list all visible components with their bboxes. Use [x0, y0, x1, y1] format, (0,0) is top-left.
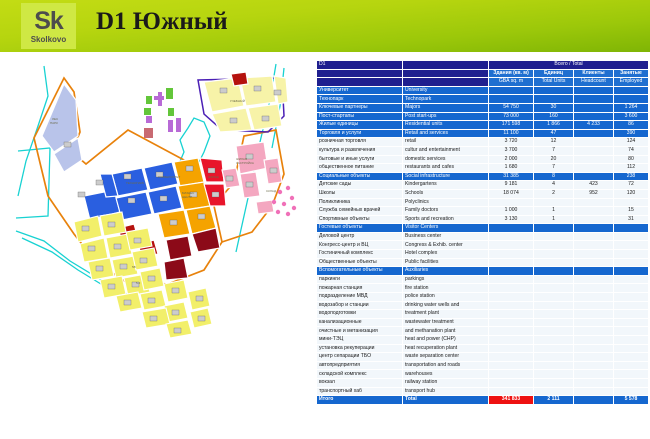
- row-label-en: Public facilities: [403, 258, 489, 267]
- row-label-en: wastewater treatment: [403, 318, 489, 327]
- row-label-en: Kindergartens: [403, 181, 489, 190]
- row-units: 8: [534, 172, 574, 181]
- table-row: установка рекуперацииheat recuperation p…: [317, 344, 649, 353]
- row-employed: [614, 224, 649, 233]
- row-headcount: [574, 250, 614, 259]
- slide-root: Sk Skolkovo D1 Южный: [0, 0, 650, 439]
- site-plan-map: ЛЕС ПАРК УЧЕБНЫЙ ЖИЛАЯ ЗАСТРОЙКА ТЕХНОПА…: [8, 56, 308, 386]
- row-units: 160: [534, 112, 574, 121]
- row-headcount: [574, 86, 614, 95]
- row-label-ru: пожарная станция: [317, 284, 403, 293]
- row-gba: [489, 258, 534, 267]
- row-label-ru: водозабор и станции: [317, 301, 403, 310]
- row-units: [534, 293, 574, 302]
- row-headcount: [574, 103, 614, 112]
- summary-table: D1 Всего / Total Здания (кв. м) Единиц К…: [316, 60, 649, 405]
- table-row: розничная торговляretail3 72012124: [317, 138, 649, 147]
- row-label-en: domestic services: [403, 155, 489, 164]
- table-row: Гостиничный комплексHotel complex: [317, 250, 649, 259]
- svg-text:ЗАСТРОЙКА: ЗАСТРОЙКА: [236, 161, 254, 165]
- row-headcount: [574, 353, 614, 362]
- column-header-units-ru: Единиц: [534, 69, 574, 78]
- row-employed: [614, 258, 649, 267]
- map-svg: ЛЕС ПАРК УЧЕБНЫЙ ЖИЛАЯ ЗАСТРОЙКА ТЕХНОПА…: [8, 56, 308, 386]
- row-headcount: [574, 224, 614, 233]
- row-label-ru: Вспомогательные объекты: [317, 267, 403, 276]
- header-en-blank-1: [403, 69, 489, 78]
- column-header-employed-en: Employed: [614, 78, 649, 87]
- row-label-en: Majors: [403, 103, 489, 112]
- row-label-en: treatment plant: [403, 310, 489, 319]
- row-employed: [614, 378, 649, 387]
- row-headcount: [574, 318, 614, 327]
- row-headcount: [574, 198, 614, 207]
- row-label-en: Retail and services: [403, 129, 489, 138]
- row-label-ru: Школы: [317, 189, 403, 198]
- row-employed: 390: [614, 129, 649, 138]
- row-gba: [489, 198, 534, 207]
- row-gba: [489, 275, 534, 284]
- row-label-ru: Деловой центр: [317, 232, 403, 241]
- row-gba: 1 000: [489, 207, 534, 216]
- row-units: [534, 301, 574, 310]
- row-units: [534, 258, 574, 267]
- row-gba: 2 000: [489, 155, 534, 164]
- row-units: 1: [534, 207, 574, 216]
- row-label-en: Family doctors: [403, 207, 489, 216]
- row-gba: [489, 318, 534, 327]
- row-employed: 80: [614, 155, 649, 164]
- row-label-ru: мини-ТЭЦ: [317, 336, 403, 345]
- row-label-ru: Гостевые объекты: [317, 224, 403, 233]
- row-employed: [614, 301, 649, 310]
- row-gba: [489, 224, 534, 233]
- svg-text:УЧЕБНЫЙ: УЧЕБНЫЙ: [230, 99, 245, 103]
- column-header-gba-ru: Здания (кв. м): [489, 69, 534, 78]
- table-body: D1 Всего / Total Здания (кв. м) Единиц К…: [317, 61, 649, 405]
- svg-text:5-2: 5-2: [136, 281, 141, 285]
- row-headcount: [574, 284, 614, 293]
- row-label-en: fire station: [403, 284, 489, 293]
- row-label-en: Visitor Centers: [403, 224, 489, 233]
- row-units: 12: [534, 138, 574, 147]
- total-label-ru: Итого: [317, 396, 403, 405]
- row-headcount: [574, 275, 614, 284]
- table-header-row-2: Здания (кв. м) Единиц Клиенты Занятые: [317, 69, 649, 78]
- row-employed: [614, 327, 649, 336]
- row-label-en: warehouses: [403, 370, 489, 379]
- row-label-ru: вокзал: [317, 378, 403, 387]
- row-label-en: Hotel complex: [403, 250, 489, 259]
- table-row: транспортный хабtransport hub: [317, 387, 649, 396]
- table-row: ПоликлиникаPolyclinics: [317, 198, 649, 207]
- row-units: [534, 232, 574, 241]
- column-header-gba-en: GBA sq. m: [489, 78, 534, 87]
- row-headcount: [574, 164, 614, 173]
- row-units: [534, 86, 574, 95]
- row-employed: [614, 95, 649, 104]
- row-employed: [614, 293, 649, 302]
- title-banner: Sk Skolkovo D1 Южный: [0, 0, 650, 52]
- row-employed: 112: [614, 164, 649, 173]
- row-employed: 1 264: [614, 103, 649, 112]
- column-header-headcount-ru: Клиенты: [574, 69, 614, 78]
- column-header-employed-ru: Занятые: [614, 69, 649, 78]
- row-label-ru: Технопарк: [317, 95, 403, 104]
- row-label-en: Sports and recreation: [403, 215, 489, 224]
- table-row: мини-ТЭЦheat and power (CHP): [317, 336, 649, 345]
- row-employed: [614, 86, 649, 95]
- row-employed: 15: [614, 207, 649, 216]
- table-row: ТехнопаркTechnopark: [317, 95, 649, 104]
- row-label-ru: Конгресс-центр и ВЦ: [317, 241, 403, 250]
- row-employed: 31: [614, 215, 649, 224]
- row-label-en: Auxiliaries: [403, 267, 489, 276]
- row-gba: [489, 361, 534, 370]
- table-row: центр сепарации ТБОwaste separation cent…: [317, 353, 649, 362]
- row-units: [534, 224, 574, 233]
- row-employed: [614, 370, 649, 379]
- row-label-ru: канализационные: [317, 318, 403, 327]
- row-units: 30: [534, 103, 574, 112]
- row-label-ru: центр сепарации ТБО: [317, 353, 403, 362]
- row-label-ru: паркинги: [317, 275, 403, 284]
- table-row: Пост-стартапыPost start-ups73 0001603 60…: [317, 112, 649, 121]
- row-headcount: 952: [574, 189, 614, 198]
- row-label-en: and methanation plant: [403, 327, 489, 336]
- table-row: Торговля и услугиRetail and services11 1…: [317, 129, 649, 138]
- row-label-en: Residential units: [403, 121, 489, 130]
- row-label-en: police station: [403, 293, 489, 302]
- row-gba: [489, 241, 534, 250]
- row-units: [534, 336, 574, 345]
- row-headcount: [574, 310, 614, 319]
- row-employed: 74: [614, 146, 649, 155]
- table-row: Общественные объектыPublic facilities: [317, 258, 649, 267]
- row-headcount: [574, 207, 614, 216]
- row-gba: 171 598: [489, 121, 534, 130]
- row-label-en: parkings: [403, 275, 489, 284]
- row-headcount: [574, 172, 614, 181]
- row-label-ru: водоподготовки: [317, 310, 403, 319]
- svg-text:ТЕХНОПАРК: ТЕХНОПАРК: [126, 181, 144, 185]
- logo-wordmark: Skolkovo: [31, 36, 67, 44]
- row-gba: [489, 378, 534, 387]
- row-label-ru: складской комплекс: [317, 370, 403, 379]
- table-row: подразделение МВДpolice station: [317, 293, 649, 302]
- table-row: Служба семейных врачейFamily doctors1 00…: [317, 207, 649, 216]
- row-units: 7: [534, 164, 574, 173]
- row-headcount: [574, 361, 614, 370]
- row-gba: [489, 327, 534, 336]
- row-label-ru: Социальные объекты: [317, 172, 403, 181]
- row-units: 2: [534, 189, 574, 198]
- row-label-en: Technopark: [403, 95, 489, 104]
- table-row: Детские садыKindergartens9 181442372: [317, 181, 649, 190]
- row-label-ru: установка рекуперации: [317, 344, 403, 353]
- row-units: [534, 95, 574, 104]
- row-label-en: Social infrastructure: [403, 172, 489, 181]
- row-units: 1: [534, 215, 574, 224]
- row-headcount: [574, 95, 614, 104]
- row-employed: [614, 344, 649, 353]
- row-label-en: retail: [403, 138, 489, 147]
- row-label-ru: Жилые единицы: [317, 121, 403, 130]
- row-units: 4: [534, 181, 574, 190]
- row-employed: [614, 353, 649, 362]
- row-employed: [614, 387, 649, 396]
- table-header-row-1: D1 Всего / Total: [317, 61, 649, 70]
- row-employed: [614, 336, 649, 345]
- row-employed: 238: [614, 172, 649, 181]
- row-headcount: [574, 336, 614, 345]
- table-row: паркингиparkings: [317, 275, 649, 284]
- table-total-row: Итого Total 341 833 2 111 5 578: [317, 396, 649, 405]
- row-headcount: [574, 232, 614, 241]
- total-label-en: Total: [403, 396, 489, 405]
- table-row: Социальные объектыSocial infrastructure3…: [317, 172, 649, 181]
- row-units: [534, 318, 574, 327]
- table-row: Спортивные объектыSports and recreation3…: [317, 215, 649, 224]
- row-units: [534, 284, 574, 293]
- table-row: бытовые и иные услугиdomestic services2 …: [317, 155, 649, 164]
- table-row: Ключевые партнерыMajors54 750301 264: [317, 103, 649, 112]
- row-label-en: waste separation center: [403, 353, 489, 362]
- row-label-ru: подразделение МВД: [317, 293, 403, 302]
- row-headcount: 423: [574, 181, 614, 190]
- table-row: ШколыSchools18 0742952120: [317, 189, 649, 198]
- row-employed: 3 600: [614, 112, 649, 121]
- row-headcount: [574, 387, 614, 396]
- table-row: Жилые единицыResidential units171 5981 8…: [317, 121, 649, 130]
- row-label-en: Schools: [403, 189, 489, 198]
- total-headcount: [574, 396, 614, 405]
- table-row: общественное питаниеrestaurants and cafe…: [317, 164, 649, 173]
- row-headcount: [574, 327, 614, 336]
- row-label-ru: очистные и метанизация: [317, 327, 403, 336]
- header-ru-blank-1: [317, 69, 403, 78]
- row-units: [534, 198, 574, 207]
- svg-text:СКЛАД: СКЛАД: [266, 189, 276, 193]
- row-employed: [614, 241, 649, 250]
- row-label-en: Business center: [403, 232, 489, 241]
- table-row: культура и развлеченияcultur and enterta…: [317, 146, 649, 155]
- table-row: водоподготовкиtreatment plant: [317, 310, 649, 319]
- row-units: [534, 241, 574, 250]
- svg-text:УНИВЕРСИТЕТ: УНИВЕРСИТЕТ: [158, 175, 180, 179]
- row-gba: 31 385: [489, 172, 534, 181]
- table-corner-label: D1: [317, 61, 403, 70]
- row-label-en: Congress & Exhib. center: [403, 241, 489, 250]
- row-label-ru: Университет: [317, 86, 403, 95]
- page-title: D1 Южный: [96, 8, 228, 36]
- row-units: [534, 327, 574, 336]
- row-employed: [614, 232, 649, 241]
- row-gba: 3 720: [489, 138, 534, 147]
- row-gba: 54 750: [489, 103, 534, 112]
- table-row: УниверситетUniversity: [317, 86, 649, 95]
- row-label-en: University: [403, 86, 489, 95]
- row-gba: 18 074: [489, 189, 534, 198]
- total-employed: 5 578: [614, 396, 649, 405]
- row-label-ru: Ключевые партнеры: [317, 103, 403, 112]
- row-gba: 11 100: [489, 129, 534, 138]
- row-gba: 73 000: [489, 112, 534, 121]
- svg-text:ЦЕНТР: ЦЕНТР: [182, 195, 192, 199]
- row-label-ru: общественное питание: [317, 164, 403, 173]
- row-label-ru: Поликлиника: [317, 198, 403, 207]
- row-label-ru: Общественные объекты: [317, 258, 403, 267]
- row-gba: [489, 370, 534, 379]
- row-label-ru: Служба семейных врачей: [317, 207, 403, 216]
- row-employed: [614, 198, 649, 207]
- row-label-en: heat and power (CHP): [403, 336, 489, 345]
- row-gba: [489, 336, 534, 345]
- row-label-en: cultur and entertainment: [403, 146, 489, 155]
- row-headcount: [574, 146, 614, 155]
- table-row: Конгресс-центр и ВЦCongress & Exhib. cen…: [317, 241, 649, 250]
- row-label-en: restaurants and cafes: [403, 164, 489, 173]
- row-gba: [489, 267, 534, 276]
- row-employed: [614, 267, 649, 276]
- row-gba: [489, 284, 534, 293]
- row-label-ru: розничная торговля: [317, 138, 403, 147]
- header-spacer-cell: [403, 61, 489, 70]
- row-employed: [614, 318, 649, 327]
- row-gba: [489, 301, 534, 310]
- row-label-ru: культура и развлечения: [317, 146, 403, 155]
- row-label-ru: автопредприятия: [317, 361, 403, 370]
- table-row: очистные и метанизацияand methanation pl…: [317, 327, 649, 336]
- row-headcount: [574, 344, 614, 353]
- row-label-en: Polyclinics: [403, 198, 489, 207]
- row-employed: [614, 275, 649, 284]
- row-label-ru: транспортный хаб: [317, 387, 403, 396]
- row-gba: 9 181: [489, 181, 534, 190]
- row-employed: 72: [614, 181, 649, 190]
- group-header-total: Всего / Total: [489, 61, 649, 70]
- row-headcount: 4 233: [574, 121, 614, 130]
- row-gba: 1 680: [489, 164, 534, 173]
- row-employed: [614, 310, 649, 319]
- total-units: 2 111: [534, 396, 574, 405]
- row-gba: [489, 293, 534, 302]
- row-gba: 3 130: [489, 215, 534, 224]
- row-headcount: [574, 258, 614, 267]
- north-parcels: [204, 72, 288, 132]
- row-headcount: [574, 378, 614, 387]
- table-row: Вспомогательные объектыAuxiliaries: [317, 267, 649, 276]
- row-gba: 3 700: [489, 146, 534, 155]
- table-row: канализационныеwastewater treatment: [317, 318, 649, 327]
- row-label-en: transport hub: [403, 387, 489, 396]
- row-employed: 120: [614, 189, 649, 198]
- row-units: 1 866: [534, 121, 574, 130]
- row-gba: [489, 86, 534, 95]
- row-units: [534, 361, 574, 370]
- row-units: 7: [534, 146, 574, 155]
- table-row: вокзалrailway station: [317, 378, 649, 387]
- logo-mark: Sk: [34, 9, 63, 34]
- table-row: автопредприятияtransportation and roads: [317, 361, 649, 370]
- header-ru-blank-2: [317, 78, 403, 87]
- row-label-en: heat recuperation plant: [403, 344, 489, 353]
- row-units: 20: [534, 155, 574, 164]
- row-gba: [489, 344, 534, 353]
- row-employed: 124: [614, 138, 649, 147]
- row-units: [534, 370, 574, 379]
- row-gba: [489, 387, 534, 396]
- row-units: [534, 353, 574, 362]
- table-row: Деловой центрBusiness center: [317, 232, 649, 241]
- row-gba: [489, 95, 534, 104]
- table-row: складской комплексwarehouses: [317, 370, 649, 379]
- row-label-en: drinking water wells and: [403, 301, 489, 310]
- skolkovo-logo: Sk Skolkovo: [21, 3, 76, 49]
- summary-table-wrapper: D1 Всего / Total Здания (кв. м) Единиц К…: [316, 60, 648, 405]
- total-gba: 341 833: [489, 396, 534, 405]
- row-units: [534, 378, 574, 387]
- header-en-blank-2: [403, 78, 489, 87]
- row-headcount: [574, 241, 614, 250]
- svg-text:ПАРК: ПАРК: [50, 121, 58, 125]
- row-employed: [614, 284, 649, 293]
- row-headcount: [574, 215, 614, 224]
- row-headcount: [574, 293, 614, 302]
- row-gba: [489, 310, 534, 319]
- table-header-row-3: GBA sq. m Total Units Headcount Employed: [317, 78, 649, 87]
- row-label-ru: Спортивные объекты: [317, 215, 403, 224]
- row-label-en: transportation and roads: [403, 361, 489, 370]
- row-employed: [614, 250, 649, 259]
- row-label-ru: Детские сады: [317, 181, 403, 190]
- row-headcount: [574, 267, 614, 276]
- row-units: [534, 275, 574, 284]
- row-headcount: [574, 155, 614, 164]
- row-units: [534, 387, 574, 396]
- row-units: [534, 310, 574, 319]
- table-row: пожарная станцияfire station: [317, 284, 649, 293]
- row-headcount: [574, 129, 614, 138]
- row-units: [534, 344, 574, 353]
- row-units: [534, 267, 574, 276]
- row-headcount: [574, 301, 614, 310]
- row-gba: [489, 353, 534, 362]
- row-employed: 86: [614, 121, 649, 130]
- row-units: 47: [534, 129, 574, 138]
- row-label-en: railway station: [403, 378, 489, 387]
- row-employed: [614, 361, 649, 370]
- row-headcount: [574, 112, 614, 121]
- table-row: Гостевые объектыVisitor Centers: [317, 224, 649, 233]
- row-label-ru: Торговля и услуги: [317, 129, 403, 138]
- row-gba: [489, 250, 534, 259]
- row-label-ru: Пост-стартапы: [317, 112, 403, 121]
- table-row: водозабор и станцииdrinking water wells …: [317, 301, 649, 310]
- svg-text:ЖИЛЬЕ: ЖИЛЬЕ: [208, 175, 219, 179]
- row-label-en: Post start-ups: [403, 112, 489, 121]
- row-headcount: [574, 138, 614, 147]
- row-label-ru: бытовые и иные услуги: [317, 155, 403, 164]
- column-header-units-en: Total Units: [534, 78, 574, 87]
- row-gba: [489, 232, 534, 241]
- column-header-headcount-en: Headcount: [574, 78, 614, 87]
- row-units: [534, 250, 574, 259]
- svg-text:5В: 5В: [132, 265, 136, 269]
- row-headcount: [574, 370, 614, 379]
- row-label-ru: Гостиничный комплекс: [317, 250, 403, 259]
